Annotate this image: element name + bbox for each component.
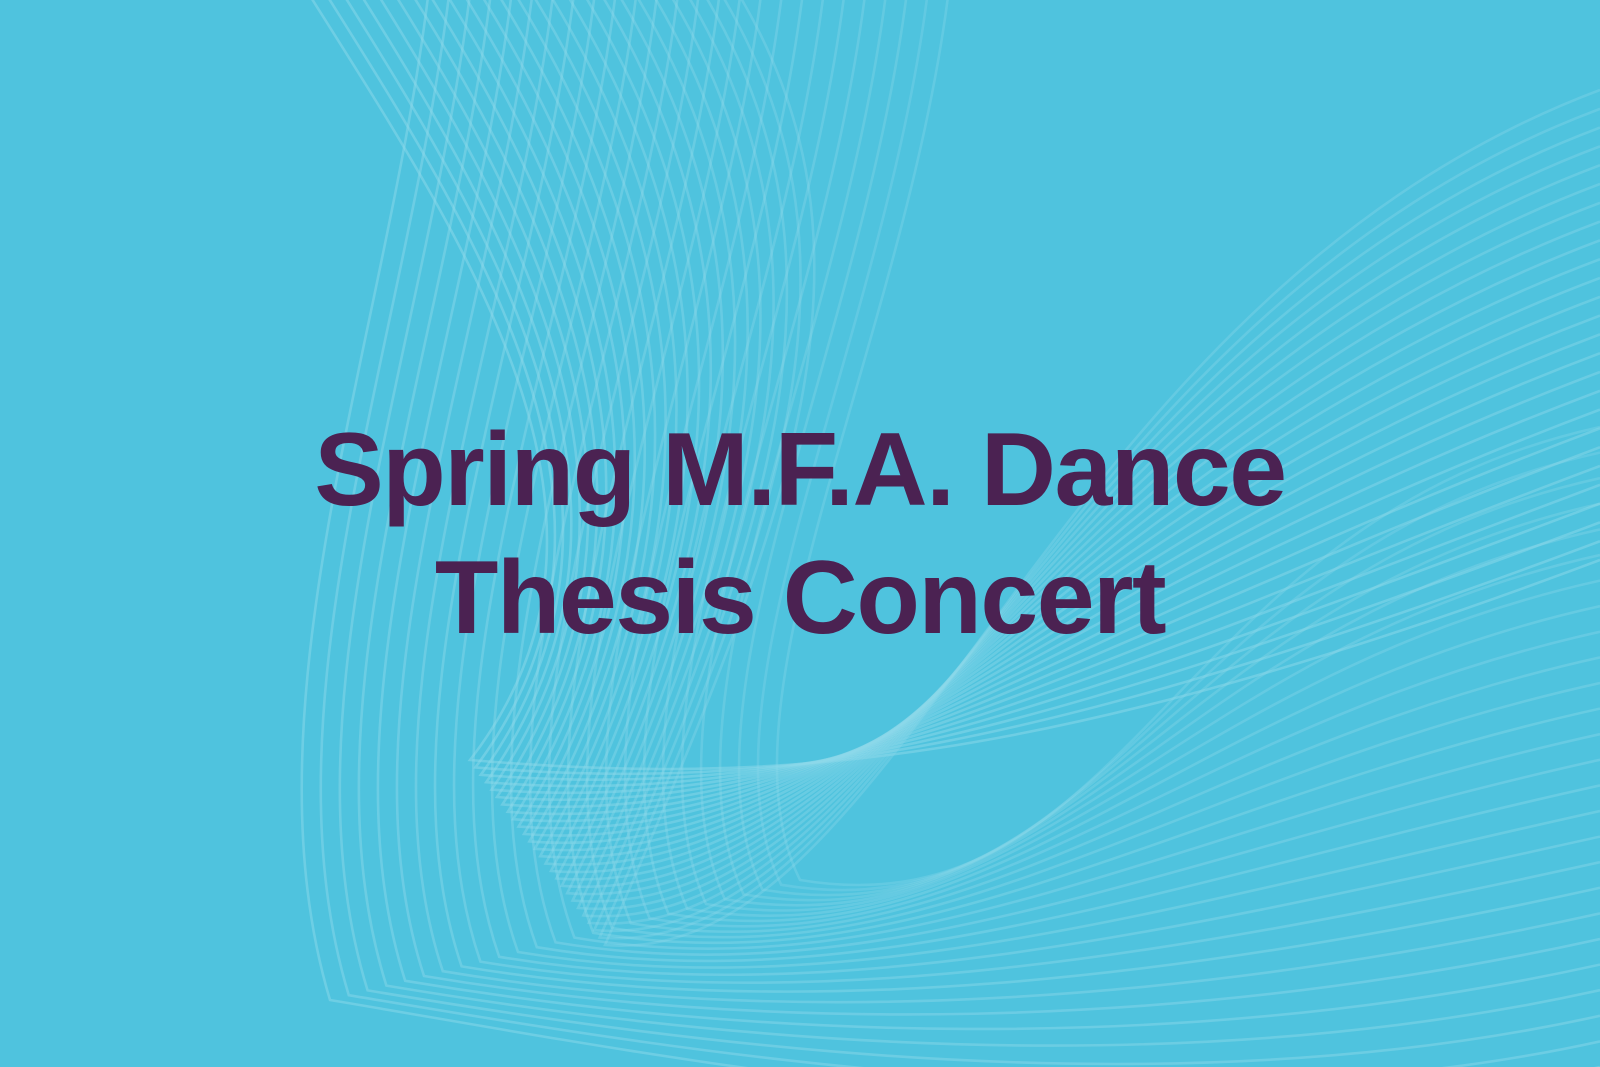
event-banner: Spring M.F.A. Dance Thesis Concert [0,0,1600,1067]
page-title-line-2: Thesis Concert [435,534,1165,662]
banner-title-block: Spring M.F.A. Dance Thesis Concert [0,0,1600,1067]
page-title-line-1: Spring M.F.A. Dance [314,406,1285,534]
